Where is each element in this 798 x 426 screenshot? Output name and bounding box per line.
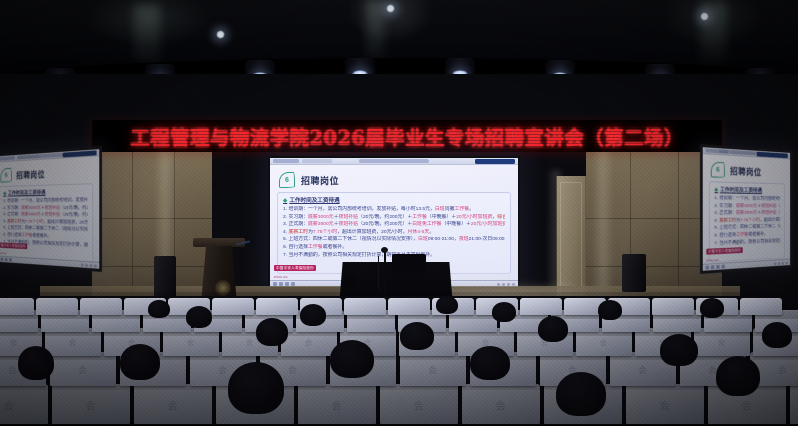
battery-icon[interactable] [90, 264, 93, 267]
seat-crest: 会 [305, 338, 313, 348]
seat-crest: 会 [85, 397, 96, 412]
card-heading: ◆工作时间及工资待遇 [3, 187, 88, 196]
attendee-silhouette [492, 302, 516, 322]
panel-seam [678, 148, 679, 308]
slide-header: 6招聘岗位 [277, 169, 511, 190]
slide-bullet-line: 7. 当月不满勤的，按照公司相关规定打折计算，期初当月不享受餐补。 [714, 238, 780, 248]
volume-icon[interactable] [778, 262, 780, 265]
seat-crest: 会 [495, 397, 506, 412]
taskbar-launchers[interactable] [705, 264, 724, 269]
seat-crest: 会 [167, 397, 178, 412]
slide-bullet-line: 5. 上班方式：四休二或做二下休二（视情况以实际情况安排），白班09:00-21… [283, 236, 505, 244]
slide-header: 6招聘岗位 [709, 158, 785, 181]
card-heading: ◆工作时间及工资待遇 [714, 185, 780, 194]
slide-title: 招聘岗位 [730, 164, 761, 178]
seat-crest: 会 [218, 364, 228, 376]
auditorium-seat: 会 [0, 384, 48, 424]
slide-brand-chip: 中国平安人寿保险股份 [274, 265, 316, 271]
taskbar-tray[interactable] [81, 263, 97, 267]
projection-screen-left: 6招聘岗位◆工作时间及工资待遇1. 培训期：一个月，需公司内部统考培训，发放补贴… [0, 146, 102, 272]
browser-tab[interactable] [273, 159, 299, 163]
ceiling-wall-wash [366, 0, 384, 66]
attendee-silhouette [228, 362, 284, 414]
auditorium-seat [740, 298, 782, 315]
taskbar-tray[interactable] [774, 261, 788, 265]
attendee-silhouette [538, 316, 568, 342]
attendee-silhouette [470, 346, 510, 380]
attendee-silhouette [148, 300, 170, 318]
auditorium-seat [344, 298, 386, 315]
led-banner: 工程管理与物流学院2026届毕业生专场招聘宣讲会（第二场） [92, 120, 723, 152]
leaf-section-icon: 6 [1, 168, 12, 183]
auditorium-seat [0, 298, 34, 315]
seat-crest: 会 [288, 364, 298, 376]
attendee-silhouette [762, 322, 792, 348]
ceiling-spotlight [386, 4, 395, 13]
network-icon[interactable] [774, 262, 776, 265]
start-icon[interactable] [705, 265, 709, 269]
browser-icon[interactable] [5, 258, 8, 262]
projection-screen-right: 6招聘岗位◆工作时间及工资待遇1. 培训期：一个月，需公司内部统考培训，发放补贴… [700, 144, 792, 274]
battery-icon[interactable] [782, 261, 784, 264]
slide-body: 6招聘岗位◆工作时间及工资待遇1. 培训期：一个月，需公司内部统考培训，发放补贴… [703, 154, 790, 264]
browser-tab-bar[interactable] [270, 158, 518, 165]
screen-surface: 6招聘岗位◆工作时间及工资待遇1. 培训期：一个月，需公司内部统考培训，发放补贴… [703, 147, 790, 271]
slide-bullet-line: 1. 培训期：一个月，需公司内部统考培训，发放补贴，每小时13.5元，白班周撇工… [283, 206, 505, 214]
seat-crest: 会 [69, 338, 77, 348]
auditorium-seat [256, 298, 298, 315]
slide-bullet-line: 4. 底薪工时为7.75个小时，超出计算加班费，20元/小时，月休4-5天。 [283, 229, 505, 237]
attendee-silhouette [256, 318, 288, 346]
audience-seating: 会会会会会会会会会会会会会会会会会会会会会会会会会会会会会会会会会会会会会 [0, 296, 798, 426]
seat-crest: 会 [3, 397, 14, 412]
auditorium-seat: 会 [298, 384, 376, 424]
attendee-silhouette [716, 356, 760, 396]
microphone-head [381, 247, 388, 253]
attendee-silhouette [598, 300, 622, 320]
seat-crest: 会 [659, 397, 670, 412]
seat-crest: 会 [428, 364, 438, 376]
panel-seam [132, 148, 133, 308]
browser-icon[interactable] [716, 265, 720, 269]
primary-action-button[interactable] [475, 159, 515, 164]
auditorium-seat [212, 298, 254, 315]
seat-crest: 会 [741, 397, 752, 412]
auditorium-seat [388, 298, 430, 315]
seat-crest: 会 [187, 338, 195, 348]
address-bar[interactable] [359, 159, 429, 163]
slide-bullet-line: 2. 实习期：底薪3000元＋夜班补贴（20元/晚，约200元）＋工作餐（中晚餐… [714, 203, 780, 210]
seat-crest: 会 [331, 397, 342, 412]
browser-tab[interactable] [0, 156, 15, 161]
ceiling [0, 0, 798, 78]
seat-crest: 会 [778, 364, 788, 376]
attendee-silhouette [436, 296, 458, 314]
seat-crest: 会 [8, 364, 18, 376]
auditorium-seat [80, 298, 122, 315]
presenter-silhouette [344, 274, 358, 290]
seat-crest: 会 [10, 338, 18, 348]
av-equipment-box [392, 254, 426, 274]
slide-title: 招聘岗位 [16, 167, 45, 180]
seat-crest: 会 [638, 364, 648, 376]
browser-tab[interactable] [302, 159, 332, 163]
slide-bullet-line: 1. 培训期：一个月，需公司内部统考培训，发放补贴，每小时13.5元，白班周撇工… [714, 195, 780, 203]
network-icon[interactable] [81, 263, 84, 266]
wall-panel-left [92, 148, 212, 308]
auditorium-seat: 会 [626, 384, 704, 424]
auditorium-seat: 会 [52, 384, 130, 424]
stage-exit-door[interactable] [556, 176, 586, 298]
screen-surface: 6招聘岗位◆工作时间及工资待遇1. 培训期：一个月，需公司内部统考培训，发放补贴… [0, 149, 99, 269]
auditorium-seat: 会 [134, 384, 212, 424]
attendee-silhouette [660, 334, 698, 366]
card-heading: ◆工作时间及工资待遇 [283, 196, 505, 204]
seat-crest: 会 [413, 397, 424, 412]
clock[interactable] [94, 264, 97, 267]
attendee-silhouette [186, 306, 212, 328]
seat-crest: 会 [718, 338, 726, 348]
attendee-silhouette [556, 372, 606, 416]
slide-content-card: ◆工作时间及工资待遇1. 培训期：一个月，需公司内部统考培训，发放补贴，每小时1… [0, 183, 93, 264]
ceiling-spotlight [216, 30, 225, 39]
slide-logo: PING AN [0, 251, 7, 255]
attendee-silhouette [330, 340, 374, 378]
seat-crest: 会 [78, 364, 88, 376]
slide-bullet-line: 1. 培训期：一个月，需公司内部统考培训，发放补贴，每小时13.5元，白班周撇工… [3, 197, 88, 205]
speaker-cabinet-right [622, 254, 646, 292]
auditorium-seat [36, 298, 78, 315]
auditorium-seat [520, 298, 562, 315]
auditorium-seat [652, 298, 694, 315]
leaf-section-icon: 6 [279, 172, 295, 188]
taskbar-launchers[interactable] [0, 257, 12, 262]
auditorium-seat: 会 [380, 384, 458, 424]
leaf-section-icon: 6 [711, 162, 725, 178]
attendee-silhouette [120, 344, 160, 380]
slide-title: 招聘岗位 [301, 174, 339, 187]
attendee-silhouette [18, 346, 54, 380]
slide-header: 6招聘岗位 [0, 161, 93, 185]
volume-icon[interactable] [85, 263, 88, 266]
auditorium-seat: 会 [462, 384, 540, 424]
led-banner-text: 工程管理与物流学院2026届毕业生专场招聘宣讲会（第二场） [130, 122, 684, 151]
auditorium-scene: 工程管理与物流学院2026届毕业生专场招聘宣讲会（第二场） 6招聘岗位◆工作时间… [0, 0, 798, 426]
slide-logo: PING AN [706, 258, 718, 263]
ppt-icon[interactable] [9, 258, 12, 262]
slide-bullet-line: 3. 正式期：底薪3800元＋夜班补贴（20元/晚，约200元）＋白班免工作餐（… [283, 221, 505, 229]
attendee-silhouette [400, 322, 434, 350]
ceiling-wall-wash [134, 4, 160, 70]
clock[interactable] [786, 261, 788, 264]
door-jamb [560, 182, 582, 295]
seat-crest: 会 [600, 338, 608, 348]
attendee-silhouette [300, 304, 326, 326]
seat-crest: 会 [246, 338, 254, 348]
folder-icon[interactable] [1, 258, 4, 262]
ceiling-spotlight [700, 12, 709, 21]
ppt-icon[interactable] [721, 264, 724, 268]
auditorium-seat: 会 [790, 384, 798, 424]
slide-logo: PING AN [274, 275, 288, 279]
slide-body: 6招聘岗位◆工作时间及工资待遇1. 培训期：一个月，需公司内部统考培训，发放补贴… [0, 156, 99, 262]
slide-bullet-line: 6. 自行选择工作餐或者餐补。 [283, 244, 505, 252]
folder-icon[interactable] [711, 265, 715, 269]
attendee-silhouette [700, 298, 724, 318]
slide-bullet-line: 2. 实习期：底薪3000元＋夜班补贴（20元/晚，约200元）＋工作餐（中晚餐… [283, 214, 505, 222]
